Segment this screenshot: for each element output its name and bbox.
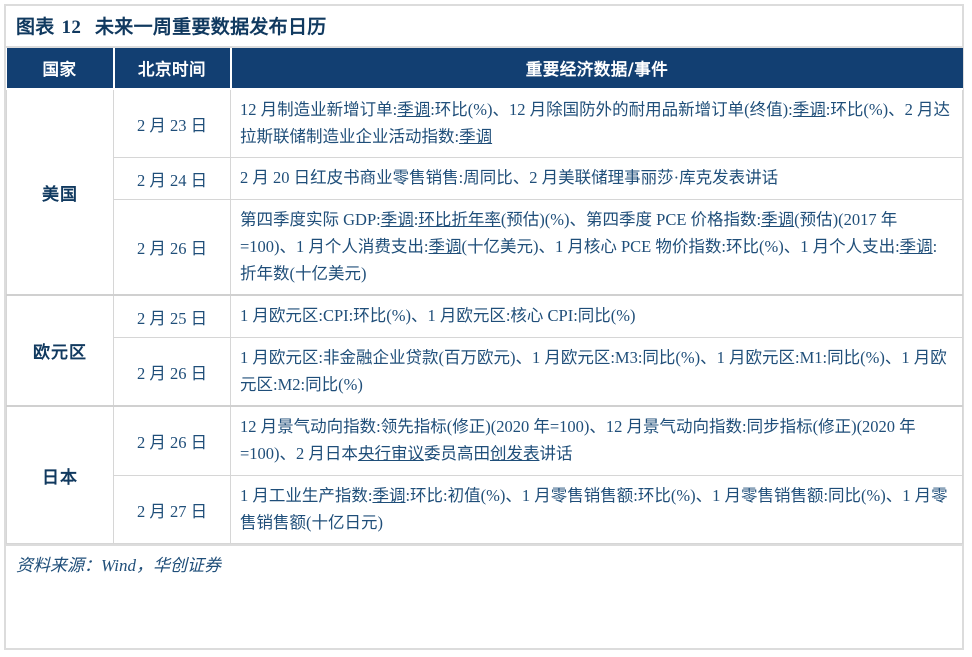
- table-row: 2 月 26 日第四季度实际 GDP:季调:环比折年率(预估)(%)、第四季度 …: [7, 200, 963, 296]
- figure-title-text: 未来一周重要数据发布日历: [95, 16, 327, 38]
- events-cell: 12 月制造业新增订单:季调:环比(%)、12 月除国防外的耐用品新增订单(终值…: [231, 89, 963, 158]
- event-term-underlined: 季调: [761, 210, 794, 229]
- date-cell: 2 月 26 日: [114, 406, 231, 475]
- event-term-underlined: 季调: [459, 127, 492, 146]
- event-term-underlined: 季调: [397, 100, 430, 119]
- date-cell: 2 月 26 日: [114, 338, 231, 407]
- event-term-underlined: 创发表: [490, 444, 540, 463]
- event-term-underlined: 季调: [900, 237, 933, 256]
- table-row: 2 月 27 日1 月工业生产指数:季调:环比:初值(%)、1 月零售销售额:环…: [7, 475, 963, 543]
- events-cell: 2 月 20 日红皮书商业零售销售:周同比、2 月美联储理事丽莎·库克发表讲话: [231, 158, 963, 200]
- events-cell: 1 月工业生产指数:季调:环比:初值(%)、1 月零售销售额:环比(%)、1 月…: [231, 475, 963, 543]
- event-text: 12 月制造业新增订单:: [240, 100, 397, 119]
- table-row: 2 月 24 日2 月 20 日红皮书商业零售销售:周同比、2 月美联储理事丽莎…: [7, 158, 963, 200]
- events-cell: 1 月欧元区:CPI:环比(%)、1 月欧元区:核心 CPI:同比(%): [231, 295, 963, 337]
- header-row: 国家 北京时间 重要经济数据/事件: [7, 48, 963, 89]
- event-term-underlined: 环比折年率: [418, 210, 501, 229]
- event-text: (预估)(%)、第四季度 PCE 价格指数:: [501, 210, 761, 229]
- event-text: 1 月欧元区:CPI:环比(%)、1 月欧元区:核心 CPI:同比(%): [240, 306, 636, 325]
- figure-title: 图表 12 未来一周重要数据发布日历: [6, 6, 962, 48]
- events-cell: 1 月欧元区:非金融企业贷款(百万欧元)、1 月欧元区:M3:同比(%)、1 月…: [231, 338, 963, 407]
- event-text: :环比(%)、12 月除国防外的耐用品新增订单(终值):: [430, 100, 793, 119]
- event-term-underlined: 季调: [793, 100, 826, 119]
- event-text: 第四季度实际 GDP:: [240, 210, 381, 229]
- event-term-underlined: 季调: [372, 486, 405, 505]
- table-row: 欧元区2 月 25 日1 月欧元区:CPI:环比(%)、1 月欧元区:核心 CP…: [7, 295, 963, 337]
- table-header: 国家 北京时间 重要经济数据/事件: [7, 48, 963, 89]
- event-term-underlined: 季调: [381, 210, 414, 229]
- date-cell: 2 月 23 日: [114, 89, 231, 158]
- event-text: 2 月 20 日红皮书商业零售销售:周同比、2 月美联储理事丽莎·库克发表讲话: [240, 168, 778, 187]
- figure-container: 图表 12 未来一周重要数据发布日历 国家 北京时间 重要经济数据/事件 美国2…: [4, 4, 964, 650]
- date-cell: 2 月 25 日: [114, 295, 231, 337]
- date-cell: 2 月 26 日: [114, 200, 231, 296]
- table-row: 日本2 月 26 日12 月景气动向指数:领先指标(修正)(2020 年=100…: [7, 406, 963, 475]
- event-text: 1 月欧元区:非金融企业贷款(百万欧元)、1 月欧元区:M3:同比(%)、1 月…: [240, 348, 947, 394]
- event-text: 讲话: [539, 444, 572, 463]
- event-term-underlined: 央行审议: [358, 444, 424, 463]
- date-cell: 2 月 24 日: [114, 158, 231, 200]
- event-term-underlined: 季调: [429, 237, 462, 256]
- event-text: 委员高田: [424, 444, 490, 463]
- country-cell: 美国: [7, 89, 114, 295]
- figure-number: 12: [62, 17, 82, 38]
- events-cell: 12 月景气动向指数:领先指标(修正)(2020 年=100)、12 月景气动向…: [231, 406, 963, 475]
- figure-label: 图表: [16, 16, 55, 38]
- event-text: 1 月工业生产指数:: [240, 486, 372, 505]
- date-cell: 2 月 27 日: [114, 475, 231, 543]
- column-header-events: 重要经济数据/事件: [231, 48, 963, 89]
- event-text: 12 月景气动向指数:领先指标(修正)(2020 年=100)、12 月景气动向…: [240, 417, 916, 463]
- events-cell: 第四季度实际 GDP:季调:环比折年率(预估)(%)、第四季度 PCE 价格指数…: [231, 200, 963, 296]
- column-header-country: 国家: [7, 48, 114, 89]
- source-note: 资料来源：Wind，华创证券: [6, 544, 962, 586]
- country-cell: 欧元区: [7, 295, 114, 406]
- table-row: 美国2 月 23 日12 月制造业新增订单:季调:环比(%)、12 月除国防外的…: [7, 89, 963, 158]
- column-header-time: 北京时间: [114, 48, 231, 89]
- calendar-table: 国家 北京时间 重要经济数据/事件 美国2 月 23 日12 月制造业新增订单:…: [6, 48, 963, 544]
- event-text: (十亿美元)、1 月核心 PCE 物价指数:环比(%)、1 月个人支出:: [462, 237, 900, 256]
- table-row: 2 月 26 日1 月欧元区:非金融企业贷款(百万欧元)、1 月欧元区:M3:同…: [7, 338, 963, 407]
- country-cell: 日本: [7, 406, 114, 543]
- table-body: 美国2 月 23 日12 月制造业新增订单:季调:环比(%)、12 月除国防外的…: [7, 89, 963, 544]
